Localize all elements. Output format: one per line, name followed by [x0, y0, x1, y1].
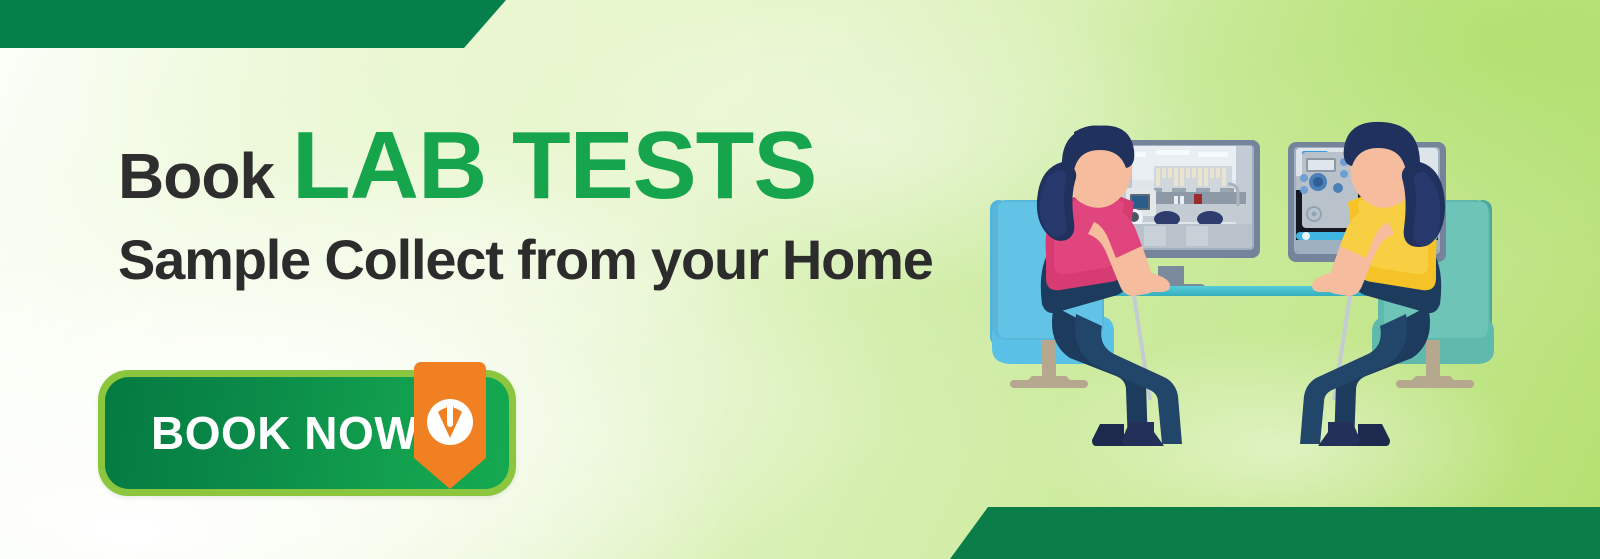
bottom-right-corner-band	[950, 507, 1600, 559]
cta-area: BOOK NOW	[98, 362, 518, 498]
headline-primary: Book LAB TESTS	[118, 118, 978, 214]
subheadline: Sample Collect from your Home	[118, 232, 978, 288]
lab-consultation-illustration	[958, 118, 1524, 448]
lab-tests-promo-banner: Book LAB TESTS Sample Collect from your …	[0, 0, 1600, 559]
power-down-badge-icon	[426, 398, 474, 446]
headline-block: Book LAB TESTS Sample Collect from your …	[118, 118, 978, 288]
top-left-corner-band	[0, 0, 506, 48]
headline-emphasis: LAB TESTS	[292, 118, 816, 214]
book-now-button-label: BOOK NOW	[151, 410, 418, 456]
headline-prefix: Book	[118, 144, 274, 208]
